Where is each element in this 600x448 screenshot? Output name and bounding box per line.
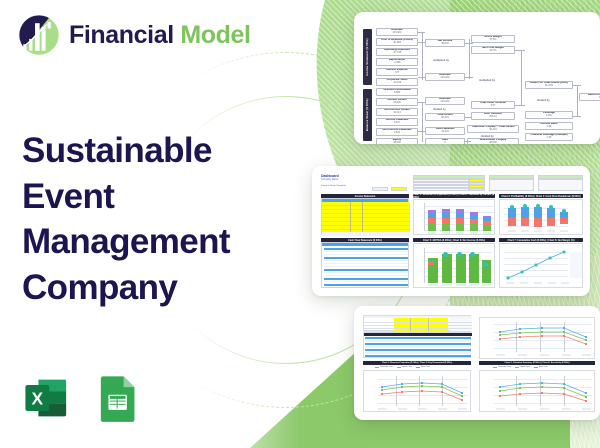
- flowchart-connector: [422, 32, 423, 80]
- projection-line-series: [364, 371, 472, 413]
- flowchart-node: Return on Total Assets (ROA) 81.07%: [525, 81, 573, 89]
- dashboard-kpi-block: [538, 179, 583, 191]
- flowchart-connector: [422, 102, 423, 142]
- flowchart-node: Current Liabilities 9,407: [376, 118, 418, 126]
- dashboard-input-value[interactable]: [469, 188, 485, 191]
- flowchart-node: Depreciation -1,380: [376, 58, 418, 66]
- circle-bar-chart-logo-icon: [18, 14, 60, 56]
- file-format-icons: X: [20, 372, 142, 424]
- dashboard-toggle-cell-highlighted[interactable]: [391, 187, 407, 191]
- screenshot-card-dupont-flowchart[interactable]: Income Statement ($ 000s) Balance Sheet …: [354, 12, 600, 144]
- flowchart-node: Leverage 1.25x: [525, 111, 573, 119]
- dashboard-section-header: Chart 3: Profitability ($ 000s) | Chart …: [499, 194, 583, 198]
- dashboard-chart-green-bars: [413, 243, 495, 288]
- dashboard-chart-combo: [499, 199, 583, 235]
- projection-section-header: Chart 1: Revenue Projection ($ 000s) | C…: [363, 361, 471, 365]
- brand-logo: Financial Model: [18, 14, 251, 56]
- flowchart-connector: [465, 117, 471, 118]
- dashboard-toggle-cell[interactable]: [372, 187, 388, 191]
- flowchart-connector: [515, 50, 525, 51]
- projection-legend-left: Downside Case Upside Case Base Case: [375, 366, 430, 368]
- projection-charts: Chart 1: Revenue Projection ($ 000s) | C…: [359, 311, 595, 415]
- flowchart-connector: [577, 85, 578, 117]
- dashboard-note: Financial Model Template: [321, 185, 346, 187]
- dashboard-cashflow-table: [321, 242, 409, 288]
- flowchart-connector: [521, 50, 522, 105]
- flowchart-node: Revenue 215,000: [425, 73, 465, 81]
- flowchart-node: Total Assets 60,219: [425, 113, 465, 121]
- google-sheets-icon[interactable]: [90, 372, 142, 424]
- dashboard-chart-line: [499, 243, 583, 288]
- flowchart-node: Total Liabilities 12,219: [425, 127, 465, 135]
- flowchart-node: Debt 0: [425, 138, 465, 144]
- flowchart-operator: divided by: [433, 108, 446, 111]
- flowchart-node: Accounts Receivable 8,583: [376, 88, 418, 96]
- dashboard-section-header: Chart 7: Cumulative Cash ($ 000s) | Char…: [499, 238, 583, 242]
- flowchart-node: Revenue 215,000: [376, 28, 418, 36]
- page-title: Sustainable Event Management Company: [22, 128, 277, 310]
- flowchart-node: Gross Margin 57.3%: [471, 35, 515, 43]
- projection-assumptions-table: [363, 315, 471, 331]
- projection-chart-top-right: [479, 317, 595, 359]
- flowchart-connector: [418, 77, 425, 78]
- flowchart-node: Net Profit Margin 22.7%: [471, 46, 515, 54]
- flowchart-node: Total Asset Turnover 3.57: [471, 101, 515, 109]
- projection-section-header: Chart 3: Valuation Summary ($ 000s) | Ch…: [479, 361, 595, 365]
- flowchart-node: Revenue 215,000: [425, 97, 465, 105]
- flowchart-connector: [465, 141, 471, 142]
- flowchart-connector: [573, 116, 581, 117]
- page-title-line-4: Company: [22, 265, 277, 311]
- microsoft-excel-icon[interactable]: X: [20, 372, 72, 424]
- flowchart-node: Return on Equity (ROE) 101.7%: [579, 93, 600, 101]
- flowchart-operator: multiplied by: [479, 79, 495, 82]
- dupont-flowchart: Income Statement ($ 000s) Balance Sheet …: [359, 17, 595, 139]
- promo-banner: Financial Model Sustainable Event Manage…: [0, 0, 600, 448]
- dashboard-section-header: Chart 5: EBITDA ($ 000s) | Chart 6: Net …: [413, 238, 495, 242]
- page-title-line-2: Event: [22, 174, 277, 220]
- projection-summary-table: [363, 332, 471, 358]
- flowchart-node: Current Assets 44,006: [376, 98, 418, 106]
- projection-line-series: [480, 371, 596, 413]
- projection-chart-bottom-right: [479, 370, 595, 412]
- flowchart-connector: [515, 105, 525, 106]
- flowchart-node: Non-Current Liabilities 2,812: [376, 128, 418, 136]
- brand-name-secondary: Model: [180, 21, 250, 49]
- flowchart-node: Net Income 48,816: [425, 39, 465, 47]
- screenshot-card-financial-dashboard[interactable]: Dashboard Company Name Financial Model T…: [312, 166, 590, 296]
- dashboard-kpi-block: [489, 179, 534, 191]
- svg-text:X: X: [32, 389, 44, 409]
- dashboard-input-row: [413, 188, 469, 191]
- flowchart-node: Current Ratio 4.68: [525, 122, 573, 130]
- dashboard-section-header: Chart 1: Revenue vs Expenses ($ 000s) | …: [413, 194, 495, 198]
- flowchart-band-income-statement: Income Statement ($ 000s): [363, 29, 372, 85]
- brand-logo-text: Financial Model: [69, 21, 251, 50]
- flowchart-operator: divided by: [537, 99, 550, 102]
- projection-chart-bottom-left: [363, 370, 471, 412]
- page-title-line-3: Management: [22, 219, 277, 265]
- flowchart-node: Corporate Taxes -12,019: [376, 78, 418, 86]
- flowchart-node: Shareholder's Equity 48,000: [467, 138, 519, 144]
- flowchart-node: Operating Expenses -57,748: [376, 48, 418, 56]
- flowchart-node: Interest Expense -577: [376, 68, 418, 76]
- dashboard-chart-stacked-bars: [413, 199, 495, 235]
- flowchart-node: Total Debt + Equity = Total Assets 60,21…: [467, 125, 519, 133]
- flowchart-connector: [465, 77, 473, 78]
- financial-dashboard: Dashboard Company Name Financial Model T…: [317, 171, 585, 291]
- flowchart-node: Cost of Revenue (COGS) -91,880: [376, 38, 418, 46]
- flowchart-operator: multiplied by: [433, 59, 449, 62]
- projection-legend-right: Downside Case Upside Case Base Case: [493, 366, 548, 368]
- brand-name-primary: Financial: [69, 21, 174, 49]
- dashboard-title: Dashboard Company Name: [321, 174, 339, 181]
- flowchart-node: Financial Leverage (multiple) 1.25: [525, 133, 573, 141]
- screenshot-card-projection-charts[interactable]: Chart 1: Revenue Projection ($ 000s) | C…: [354, 306, 600, 420]
- page-title-line-1: Sustainable: [22, 128, 277, 174]
- flowchart-connector: [469, 39, 470, 79]
- flowchart-node: Non-Current Assets 16,213: [376, 108, 418, 116]
- flowchart-node: DSO Turnover 206.24: [471, 112, 515, 120]
- dashboard-income-table: [321, 198, 409, 235]
- flowchart-node: Equity 48,000: [376, 138, 418, 144]
- flowchart-band-balance-sheet: Balance Sheet ($ 000s): [363, 89, 372, 141]
